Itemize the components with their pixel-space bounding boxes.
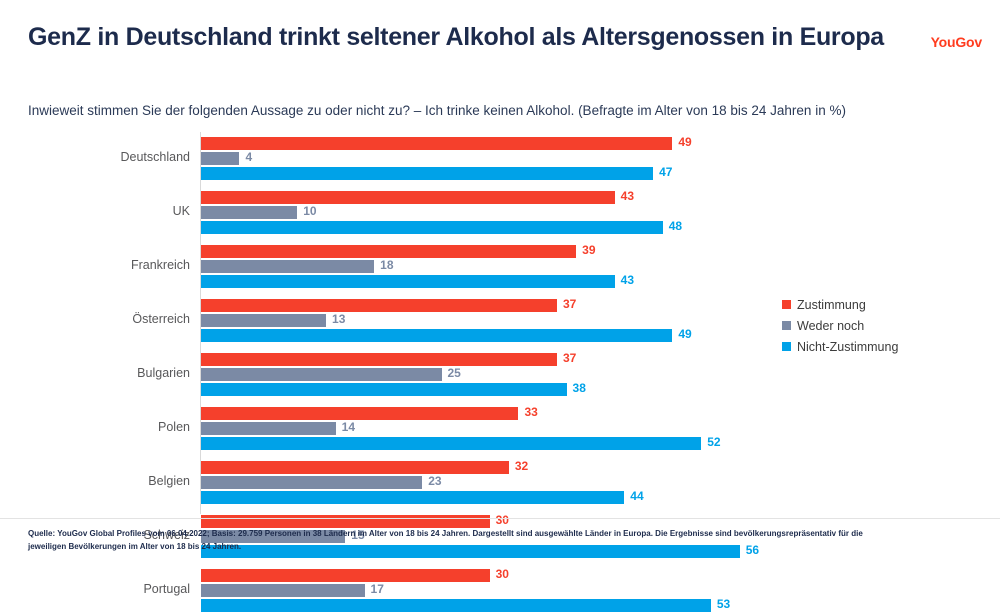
bar-group: Polen331452: [0, 406, 1000, 454]
bar-row: 44: [201, 491, 684, 504]
bar-row: 30: [201, 515, 550, 528]
category-label: Österreich: [0, 312, 190, 326]
bar[interactable]: [201, 461, 509, 474]
bar-row: 10: [201, 206, 357, 219]
bar-value-label: 30: [496, 513, 509, 527]
legend-label-zustimmung: Zustimmung: [797, 298, 866, 312]
bar-value-label: 32: [515, 459, 528, 473]
bar-row: 17: [201, 584, 425, 597]
bar-value-label: 43: [621, 273, 634, 287]
bar-value-label: 44: [630, 489, 643, 503]
bar-group: Belgien322344: [0, 460, 1000, 508]
bar[interactable]: [201, 206, 297, 219]
source-note: Quelle: YouGov Global Profiles vom 06.04…: [28, 528, 888, 554]
legend-swatch-zustimmung: [782, 300, 791, 309]
bar[interactable]: [201, 275, 615, 288]
bar-row: 37: [201, 353, 617, 366]
bar-row: 14: [201, 422, 396, 435]
bar-value-label: 38: [573, 381, 586, 395]
bar[interactable]: [201, 407, 518, 420]
bar-row: 37: [201, 299, 617, 312]
chart-header: GenZ in Deutschland trinkt seltener Alko…: [28, 22, 990, 53]
bar[interactable]: [201, 476, 422, 489]
bar-value-label: 47: [659, 165, 672, 179]
category-label: UK: [0, 204, 190, 218]
category-label: Bulgarien: [0, 366, 190, 380]
bar[interactable]: [201, 491, 624, 504]
bar[interactable]: [201, 584, 365, 597]
bar-row: 30: [201, 569, 550, 582]
bar-value-label: 37: [563, 297, 576, 311]
bar-group: Deutschland49447: [0, 136, 1000, 184]
category-label: Polen: [0, 420, 190, 434]
bar-value-label: 18: [380, 258, 393, 272]
bar-value-label: 53: [717, 597, 730, 611]
bar-value-label: 43: [621, 189, 634, 203]
chart-subtitle: Inwieweit stimmen Sie der folgenden Auss…: [28, 103, 846, 118]
legend-item-weder-noch[interactable]: Weder noch: [782, 315, 898, 336]
bar-row: 23: [201, 476, 482, 489]
bar[interactable]: [201, 353, 557, 366]
bar-row: 53: [201, 599, 771, 612]
bar-row: 49: [201, 137, 732, 150]
legend-swatch-nicht-zustimmung: [782, 342, 791, 351]
bar-value-label: 17: [371, 582, 384, 596]
bar-value-label: 13: [332, 312, 345, 326]
bar[interactable]: [201, 167, 653, 180]
bar-row: 39: [201, 245, 636, 258]
bar-row: 38: [201, 383, 627, 396]
bar[interactable]: [201, 245, 576, 258]
legend-item-zustimmung[interactable]: Zustimmung: [782, 294, 898, 315]
bar-group: Portugal301753: [0, 568, 1000, 616]
bar-value-label: 49: [678, 135, 691, 149]
category-label: Deutschland: [0, 150, 190, 164]
bar[interactable]: [201, 152, 239, 165]
bar-value-label: 4: [245, 150, 252, 164]
bar-row: 43: [201, 191, 675, 204]
category-label: Belgien: [0, 474, 190, 488]
legend-label-nicht-zustimmung: Nicht-Zustimmung: [797, 340, 898, 354]
legend-swatch-weder-noch: [782, 321, 791, 330]
bar-row: 13: [201, 314, 386, 327]
bar[interactable]: [201, 383, 567, 396]
bar-row: 18: [201, 260, 434, 273]
bar-value-label: 14: [342, 420, 355, 434]
category-label: Frankreich: [0, 258, 190, 272]
legend-item-nicht-zustimmung[interactable]: Nicht-Zustimmung: [782, 336, 898, 357]
bar[interactable]: [201, 137, 672, 150]
bar-value-label: 25: [448, 366, 461, 380]
bar[interactable]: [201, 314, 326, 327]
bar-value-label: 48: [669, 219, 682, 233]
bar-value-label: 23: [428, 474, 441, 488]
bar[interactable]: [201, 191, 615, 204]
bar-value-label: 30: [496, 567, 509, 581]
bar-group: Bulgarien372538: [0, 352, 1000, 400]
bar-value-label: 49: [678, 327, 691, 341]
bar-row: 49: [201, 329, 732, 342]
bar[interactable]: [201, 221, 663, 234]
bar-row: 33: [201, 407, 578, 420]
bar-row: 32: [201, 461, 569, 474]
bar[interactable]: [201, 368, 442, 381]
footer-divider: [0, 518, 1000, 519]
bar[interactable]: [201, 329, 672, 342]
bar-group: Frankreich391843: [0, 244, 1000, 292]
bar-row: 47: [201, 167, 713, 180]
bar-group: UK431048: [0, 190, 1000, 238]
bar[interactable]: [201, 422, 336, 435]
bar-value-label: 52: [707, 435, 720, 449]
page-title: GenZ in Deutschland trinkt seltener Alko…: [28, 22, 908, 53]
legend-label-weder-noch: Weder noch: [797, 319, 864, 333]
bar-value-label: 33: [524, 405, 537, 419]
chart-legend: Zustimmung Weder noch Nicht-Zustimmung: [782, 294, 898, 357]
bar-value-label: 39: [582, 243, 595, 257]
bar-row: 52: [201, 437, 761, 450]
bar[interactable]: [201, 437, 701, 450]
bar-row: 43: [201, 275, 675, 288]
bar[interactable]: [201, 515, 490, 528]
bar[interactable]: [201, 569, 490, 582]
bar-value-label: 10: [303, 204, 316, 218]
bar-row: 48: [201, 221, 723, 234]
bar[interactable]: [201, 299, 557, 312]
bar-row: 4: [201, 152, 299, 165]
category-label: Portugal: [0, 582, 190, 596]
bar-value-label: 37: [563, 351, 576, 365]
yougov-logo: YouGov: [931, 34, 982, 50]
bar[interactable]: [201, 599, 711, 612]
bar[interactable]: [201, 260, 374, 273]
bar-row: 25: [201, 368, 502, 381]
